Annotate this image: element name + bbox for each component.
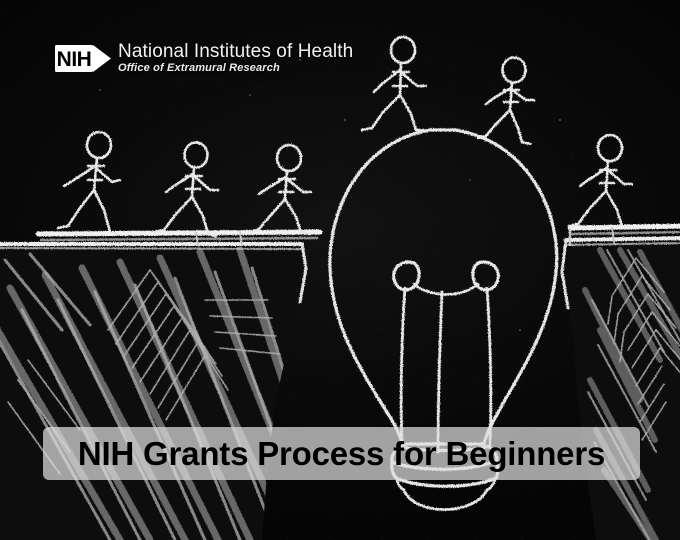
slide-canvas: NIH National Institutes of Health Office… [0, 0, 680, 540]
slide-title: NIH Grants Process for Beginners [78, 437, 605, 470]
runner-2 [155, 143, 218, 237]
logo-office-name: Office of Extramural Research [118, 63, 353, 74]
runner-3 [249, 145, 311, 234]
runner-6 [569, 135, 632, 228]
runner-1 [58, 132, 120, 234]
logo-organization-name: National Institutes of Health [118, 42, 353, 61]
left-cliff [0, 243, 312, 540]
svg-text:NIH: NIH [57, 48, 92, 71]
nih-chevron-icon: NIH [55, 45, 111, 72]
title-banner: NIH Grants Process for Beginners [43, 427, 640, 480]
right-cliff [566, 238, 680, 540]
runner-5 [478, 58, 534, 145]
runner-4 [362, 37, 426, 130]
nih-logo: NIH National Institutes of Health Office… [55, 42, 353, 74]
